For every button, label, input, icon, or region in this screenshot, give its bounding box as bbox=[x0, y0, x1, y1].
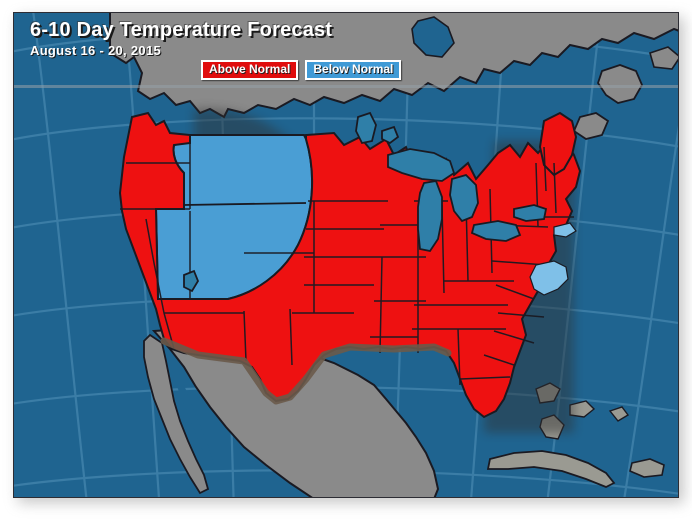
image-seam-band bbox=[14, 85, 678, 88]
legend-item-below-normal[interactable]: Below Normal bbox=[305, 60, 401, 80]
forecast-map-page: 6-10 Day Temperature Forecast August 16 … bbox=[0, 0, 692, 532]
map-frame: 6-10 Day Temperature Forecast August 16 … bbox=[13, 12, 679, 498]
legend: Above Normal Below Normal bbox=[201, 60, 401, 80]
legend-item-above-normal[interactable]: Above Normal bbox=[201, 60, 298, 80]
